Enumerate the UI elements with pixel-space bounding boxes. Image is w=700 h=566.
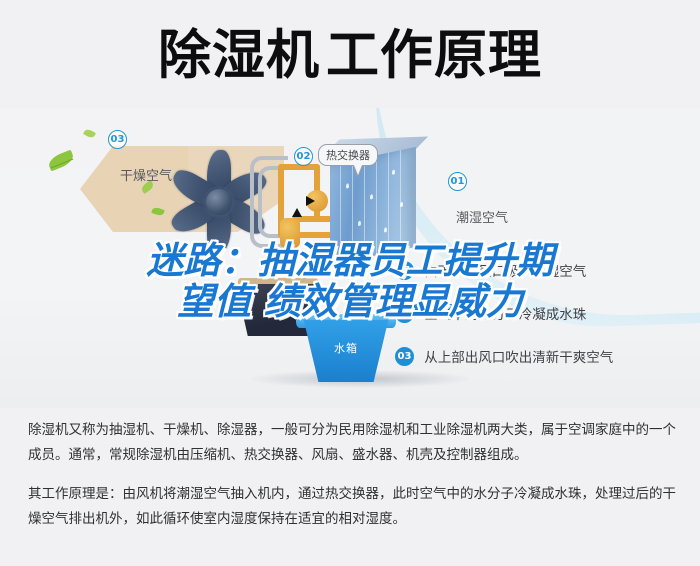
body-copy: 除湿机又称为抽湿机、干燥机、除湿器，一般可分为民用除湿机和工业除湿机两大类，属于…	[28, 418, 676, 532]
label-dry-air-text: 干燥空气	[120, 165, 172, 184]
body-paragraph-1: 除湿机又称为抽湿机、干燥机、除湿器，一般可分为民用除湿机和工业除湿机两大类，属于…	[28, 418, 676, 468]
label-humid-air-badge: 01	[448, 172, 467, 191]
step-badge-01: 01	[395, 261, 414, 280]
fan-hub	[206, 189, 232, 215]
page-title: 除湿机工作原理	[0, 26, 700, 86]
flow-arrow-icon	[292, 208, 302, 217]
body-paragraph-2: 其工作原理是：由风机将潮湿空气抽入机内，通过热交换器，此时空气中的水分子冷凝成水…	[28, 482, 676, 532]
step-text-03: 从上部出风口吹出清新干爽空气	[424, 350, 613, 366]
step-item-02: 02 空气中的水分子冷凝成水珠	[395, 303, 586, 323]
step-text-02: 空气中的水分子冷凝成水珠	[424, 307, 586, 323]
label-dry-air-badge: 03	[108, 130, 127, 149]
title-part-1: 除湿机	[158, 25, 320, 86]
step-text-01: 由下部进风口吸入潮湿空气	[424, 264, 586, 280]
flow-arrow-icon	[306, 196, 315, 206]
label-heat-exchanger-badge: 02	[294, 147, 313, 166]
poster-root: 除湿机工作原理	[0, 0, 700, 566]
step-item-01: 01 由下部进风口吸入潮湿空气	[395, 260, 586, 280]
callout-heat-exchanger-text: 热交换器	[326, 149, 370, 162]
step-item-03: 03 从上部出风口吹出清新干爽空气	[395, 346, 613, 366]
step-badge-03: 03	[395, 347, 414, 366]
label-heat-exchanger-badge-wrap: 02	[294, 146, 313, 166]
callout-heat-exchanger: 热交换器	[318, 144, 378, 166]
label-dry-air: 03 干燥空气	[108, 130, 172, 184]
label-humid-air-text: 潮湿空气	[456, 207, 508, 226]
page-title-text: 除湿机工作原理	[158, 26, 542, 86]
water-tank-label: 水箱	[300, 340, 392, 356]
label-humid-air: 01 潮湿空气	[448, 172, 508, 226]
title-part-2: 工作原理	[326, 25, 542, 86]
dehumidifier-diagram: 水箱 03 干燥空气 01 潮湿空气 02 热交换器 01 由下部进风口吸入潮湿…	[0, 108, 700, 408]
step-badge-02: 02	[395, 304, 414, 323]
